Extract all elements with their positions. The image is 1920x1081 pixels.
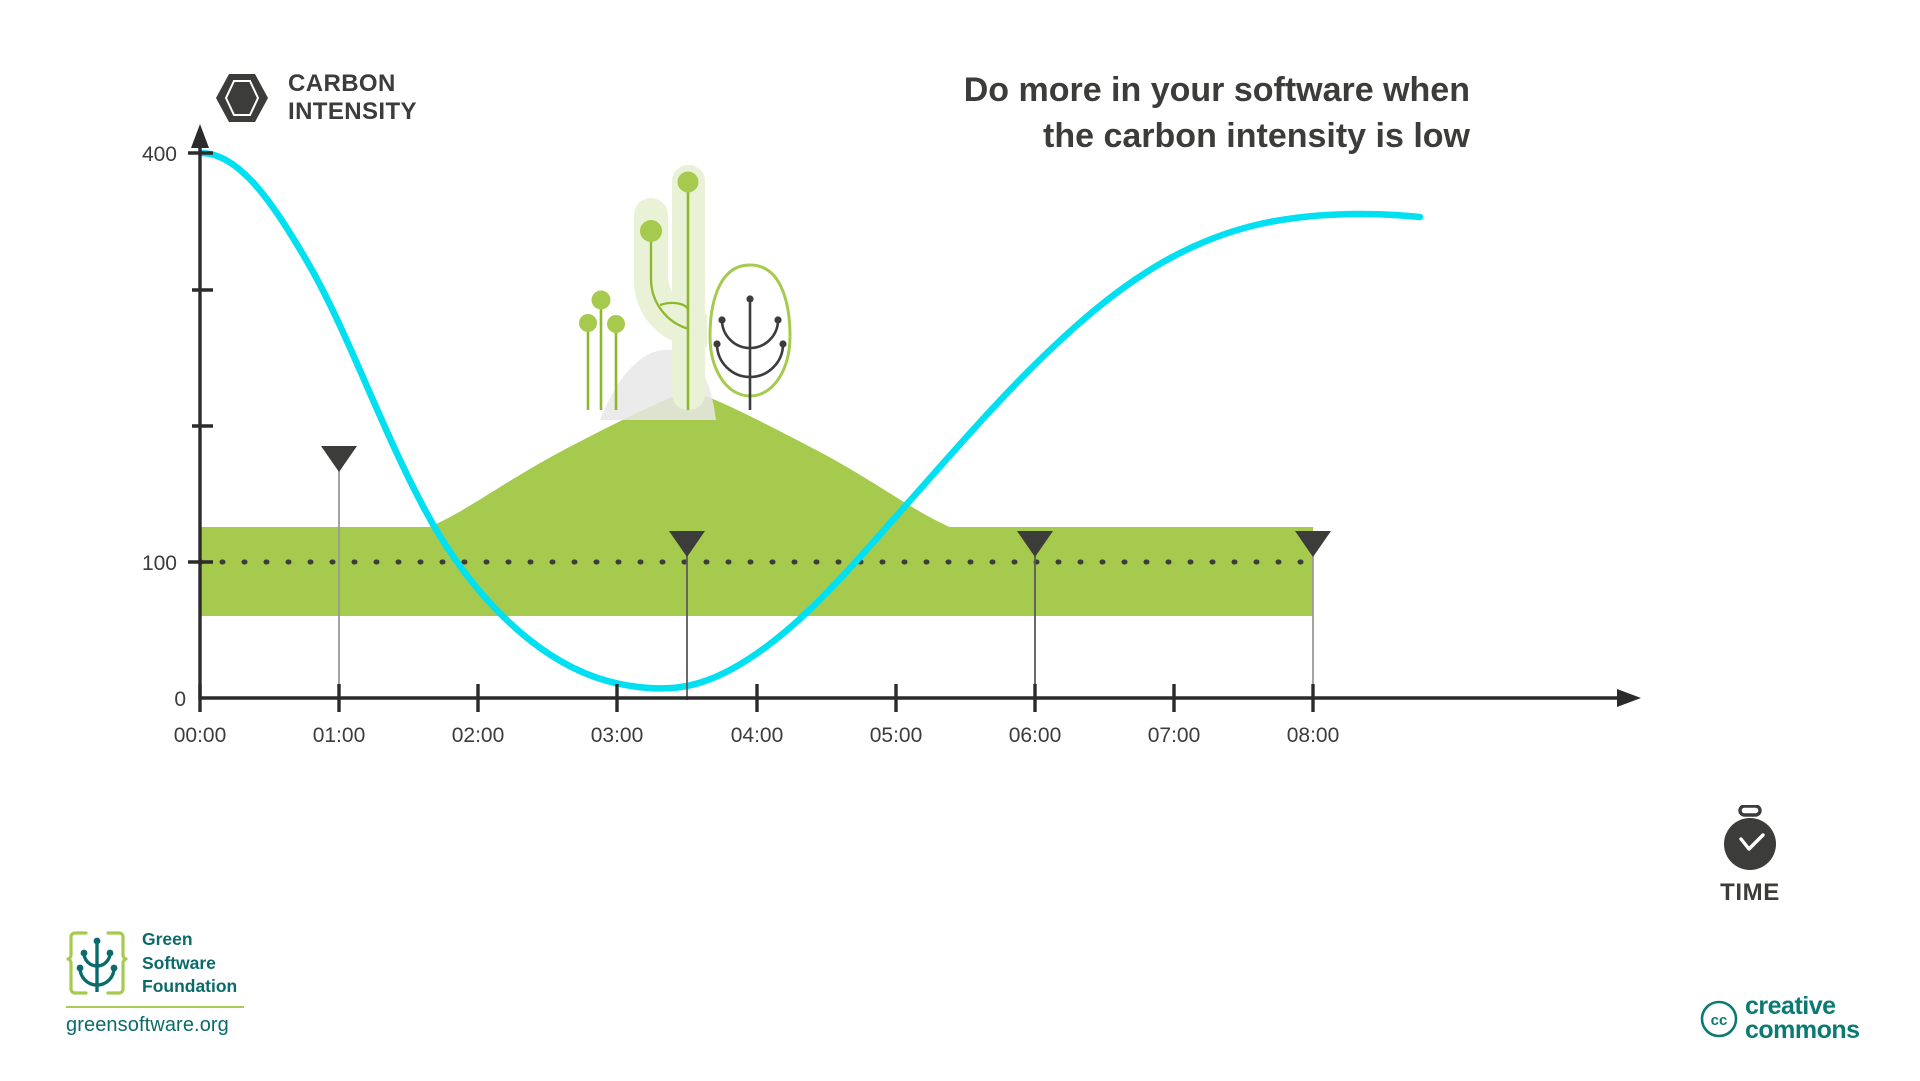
x-tick-label-7: 07:00 <box>1148 724 1201 747</box>
y-tick-label-0: 0 <box>174 688 186 711</box>
lollipop-plant-2 <box>592 291 611 411</box>
y-tick-label-100: 100 <box>142 552 177 575</box>
x-tick-label-6: 06:00 <box>1009 724 1062 747</box>
stopwatch-icon <box>1690 805 1810 873</box>
y-tick-label-400: 400 <box>142 143 177 166</box>
cc-circle-icon: cc <box>1700 1000 1738 1038</box>
x-tick-label-8: 08:00 <box>1287 724 1340 747</box>
time-axis-label: TIME <box>1690 879 1810 907</box>
x-axis-arrow <box>1617 689 1641 707</box>
gsf-divider <box>66 1006 244 1008</box>
x-tick-label-0: 00:00 <box>174 724 227 747</box>
job-marker-0100[interactable] <box>321 446 357 472</box>
leaf-tree-illustration <box>710 265 790 410</box>
x-tick-label-1: 01:00 <box>313 724 366 747</box>
svg-text:cc: cc <box>1711 1012 1728 1029</box>
x-tick-label-4: 04:00 <box>731 724 784 747</box>
creative-commons-logo[interactable]: cc creative commons <box>1700 995 1860 1043</box>
time-axis-legend: TIME <box>1690 805 1810 907</box>
x-tick-label-3: 03:00 <box>591 724 644 747</box>
gsf-url[interactable]: greensoftware.org <box>66 1014 396 1037</box>
chart-canvas: 400 100 0 00:00 01:00 02:00 03:00 04:00 … <box>0 0 1920 1081</box>
cc-name: creative commons <box>1745 995 1860 1043</box>
gsf-name: Green Software Foundation <box>142 928 237 999</box>
x-tick-label-2: 02:00 <box>452 724 505 747</box>
gsf-logo-row: Green Software Foundation <box>66 928 396 999</box>
y-axis-arrow <box>191 124 209 148</box>
green-software-foundation-logo[interactable]: Green Software Foundation greensoftware.… <box>66 928 396 1037</box>
cactus-bud <box>640 220 662 242</box>
tree-bracket-icon <box>66 930 128 996</box>
x-tick-label-5: 05:00 <box>870 724 923 747</box>
lollipop-plant-1 <box>579 314 597 410</box>
